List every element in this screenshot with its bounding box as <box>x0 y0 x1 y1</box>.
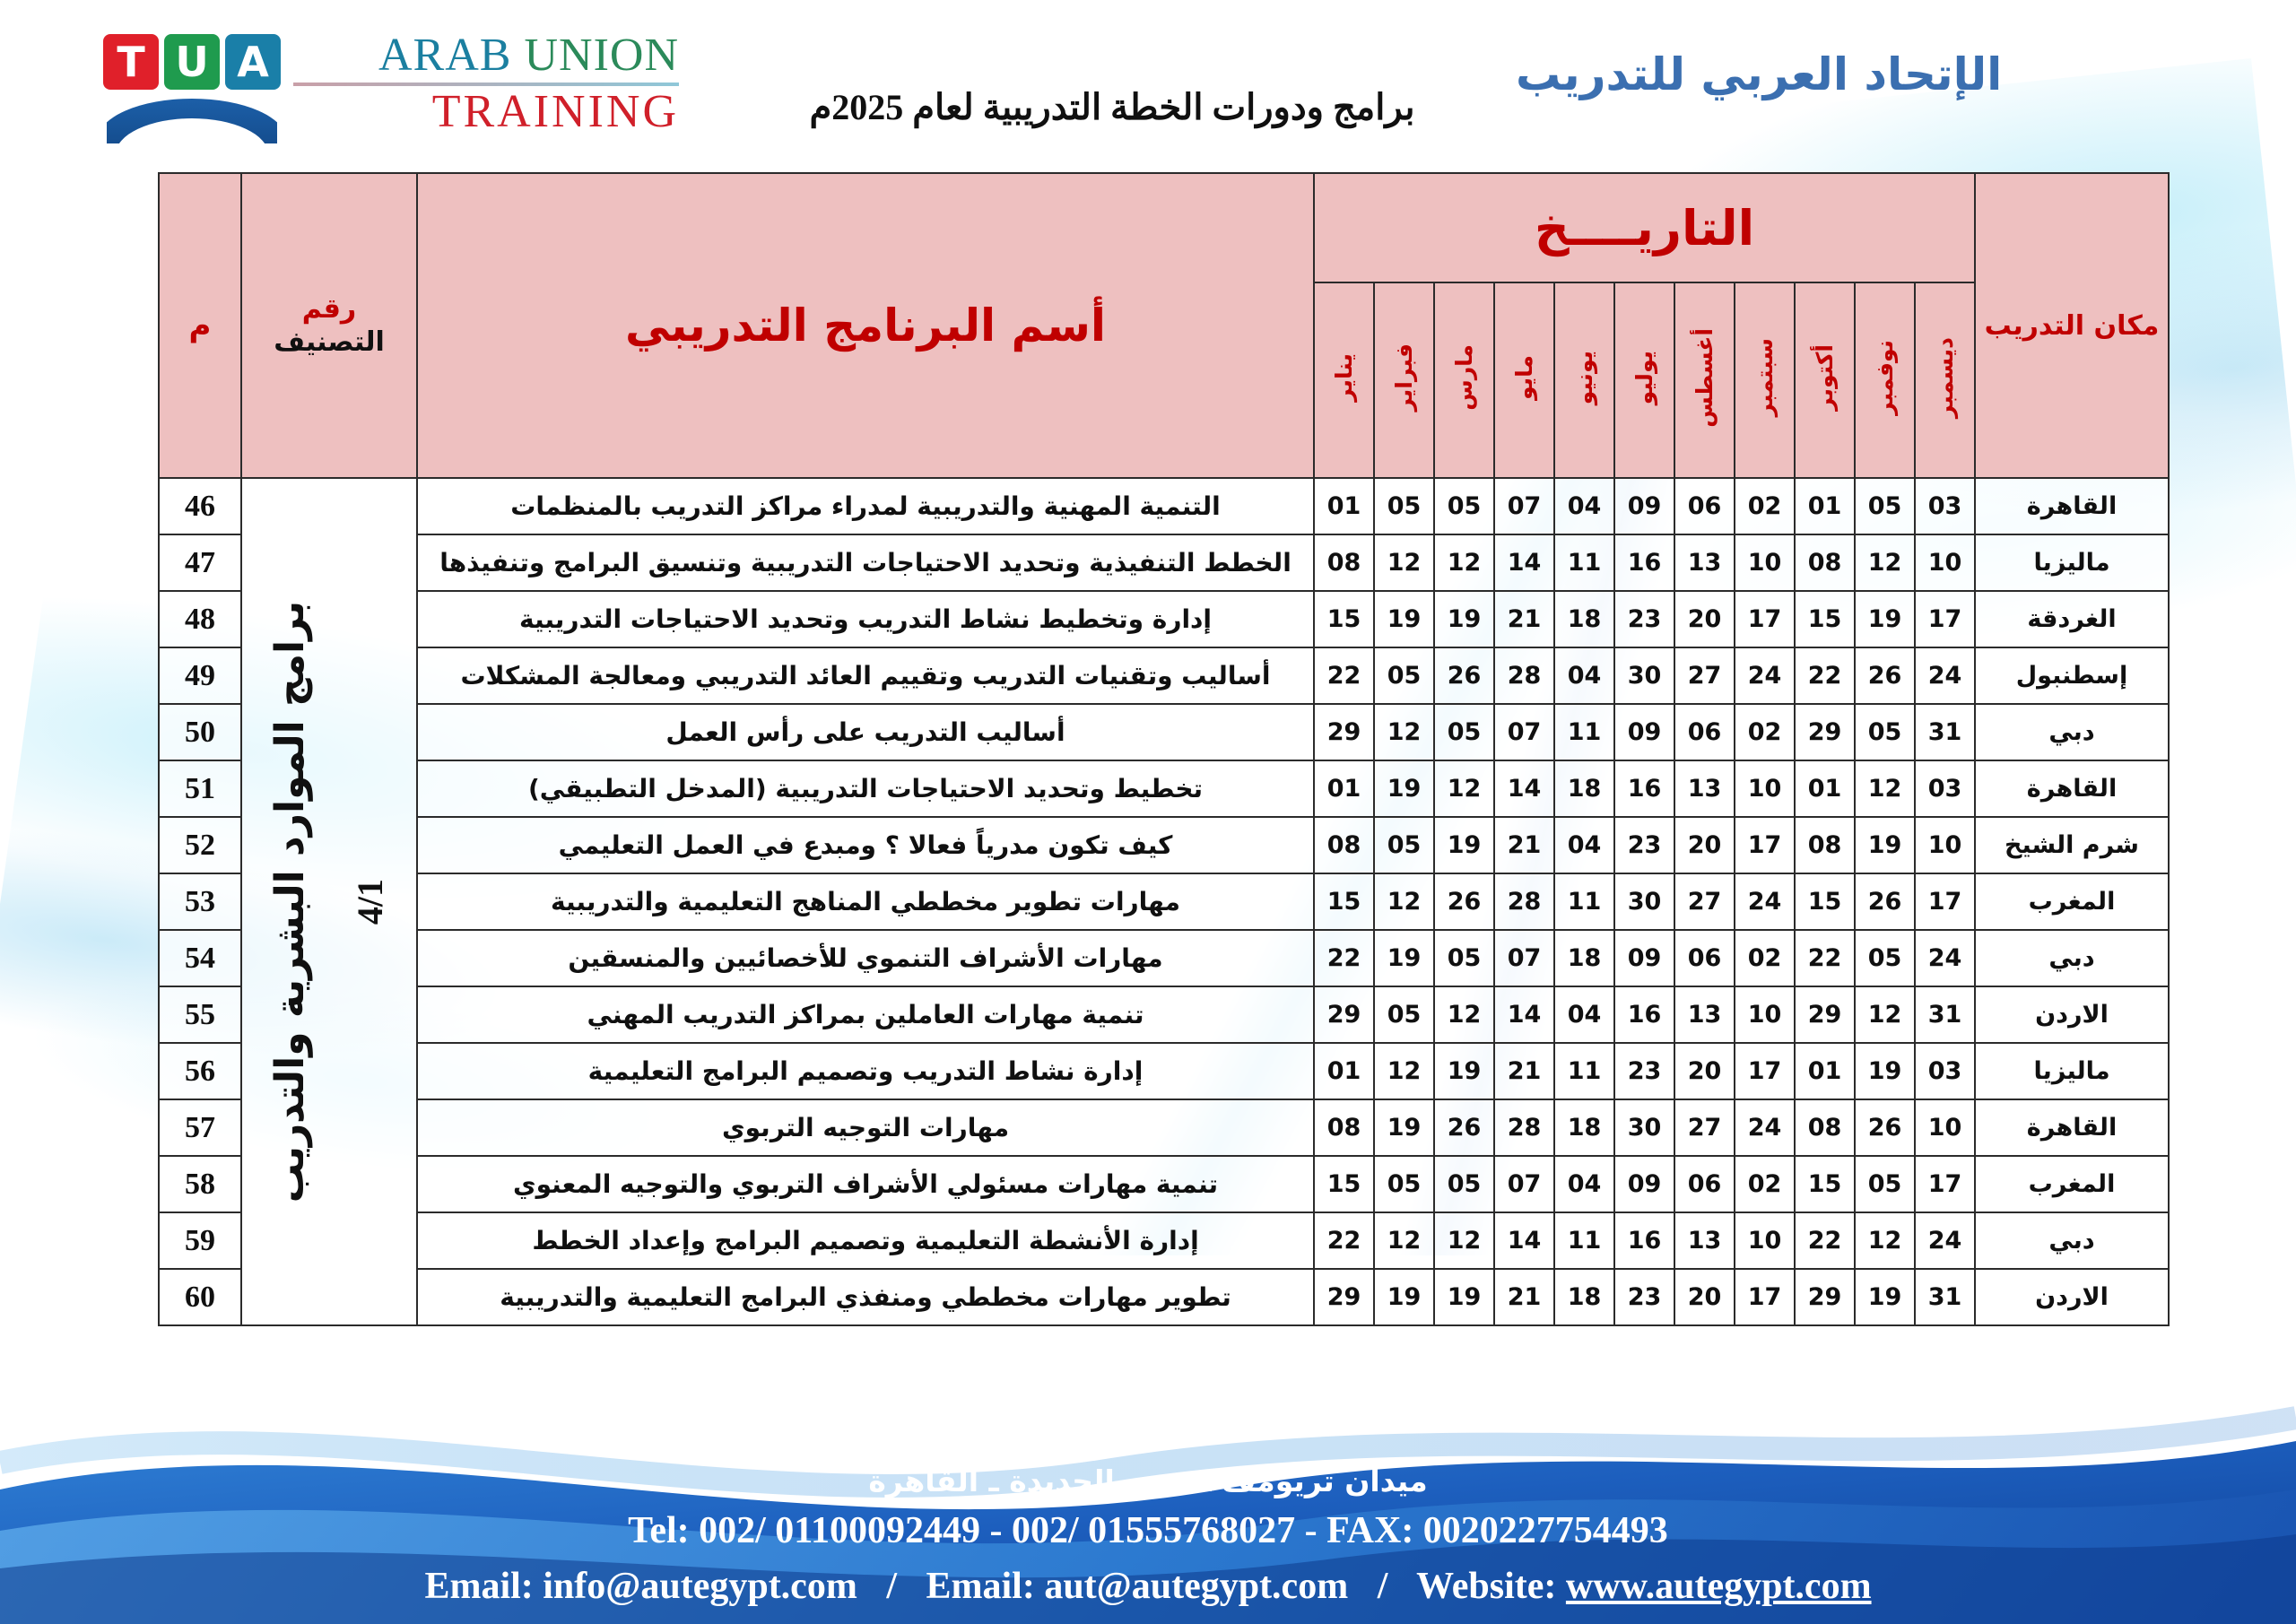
cell-day: 16 <box>1614 534 1674 591</box>
cell-day: 26 <box>1434 647 1494 704</box>
cell-day: 18 <box>1554 1099 1614 1156</box>
month-header-june: يونيو <box>1554 282 1614 478</box>
cell-day: 12 <box>1855 986 1915 1043</box>
cell-index: 53 <box>159 873 241 930</box>
month-label: مارس <box>1451 344 1477 411</box>
cell-day: 26 <box>1855 647 1915 704</box>
logo-square-a: A <box>225 34 281 90</box>
table-row: القاهرة0312011013161814121901تخطيط وتحدي… <box>159 760 2169 817</box>
cell-index: 55 <box>159 986 241 1043</box>
cell-day: 20 <box>1674 817 1735 873</box>
cell-day: 05 <box>1434 704 1494 760</box>
cell-day: 08 <box>1795 534 1855 591</box>
cell-program-name: إدارة نشاط التدريب وتصميم البرامج التعلي… <box>417 1043 1314 1099</box>
cell-day: 22 <box>1795 930 1855 986</box>
header-classification-red: رقم <box>302 293 356 325</box>
cell-day: 20 <box>1674 1269 1735 1325</box>
cell-day: 24 <box>1735 1099 1795 1156</box>
month-label: فبراير <box>1391 343 1417 412</box>
footer-address: ميدان تريومف ـ مصر الجديدة ـ القاهرة <box>0 1463 2296 1498</box>
cell-day: 29 <box>1314 1269 1374 1325</box>
cell-day: 31 <box>1915 704 1975 760</box>
email-label-1: Email: <box>424 1566 533 1607</box>
aut-logo: A U T ARAB UNION TRAINING <box>94 20 668 154</box>
cell-day: 10 <box>1735 534 1795 591</box>
month-header-july: يوليو <box>1614 282 1674 478</box>
email-address-2[interactable]: aut@autegypt.com <box>1044 1566 1348 1607</box>
cell-day: 01 <box>1314 1043 1374 1099</box>
cell-program-name: أساليب التدريب على رأس العمل <box>417 704 1314 760</box>
cell-index: 46 <box>159 478 241 534</box>
table-row: ماليزيا0319011720231121191201إدارة نشاط … <box>159 1043 2169 1099</box>
cell-day: 17 <box>1735 591 1795 647</box>
cell-index: 47 <box>159 534 241 591</box>
cell-day: 12 <box>1434 534 1494 591</box>
cell-day: 19 <box>1855 1043 1915 1099</box>
header-place: مكان التدريب <box>1975 173 2169 478</box>
cell-day: 02 <box>1735 1156 1795 1212</box>
month-header-october: أكتوبر <box>1795 282 1855 478</box>
cell-day: 28 <box>1494 873 1554 930</box>
cell-place: المغرب <box>1975 873 2169 930</box>
cell-day: 19 <box>1374 1269 1434 1325</box>
cell-index: 54 <box>159 930 241 986</box>
cell-day: 12 <box>1855 534 1915 591</box>
cell-day: 09 <box>1614 478 1674 534</box>
cell-day: 23 <box>1614 817 1674 873</box>
cell-day: 31 <box>1915 986 1975 1043</box>
cell-day: 19 <box>1434 817 1494 873</box>
month-header-august: أغسطس <box>1674 282 1735 478</box>
cell-day: 15 <box>1314 873 1374 930</box>
header-program-name: أسم البرنامج التدريبي <box>417 173 1314 478</box>
cell-day: 03 <box>1915 1043 1975 1099</box>
cell-day: 19 <box>1855 1269 1915 1325</box>
cell-day: 12 <box>1374 1043 1434 1099</box>
logo-word-arab: ARAB <box>378 30 511 81</box>
month-label: نوفمبر <box>1872 340 1898 415</box>
cell-day: 17 <box>1915 873 1975 930</box>
cell-day: 05 <box>1374 986 1434 1043</box>
month-header-march: مارس <box>1434 282 1494 478</box>
month-header-november: نوفمبر <box>1855 282 1915 478</box>
cell-day: 10 <box>1735 986 1795 1043</box>
logo-name-line2: TRAINING <box>293 88 679 137</box>
cell-day: 30 <box>1614 873 1674 930</box>
cell-index: 59 <box>159 1212 241 1269</box>
cell-day: 17 <box>1735 1043 1795 1099</box>
cell-day: 19 <box>1374 930 1434 986</box>
cell-day: 05 <box>1855 1156 1915 1212</box>
logo-square-t: T <box>103 34 159 90</box>
cell-day: 08 <box>1314 534 1374 591</box>
cell-program-name: تطوير مهارات مخططي ومنفذي البرامج التعلي… <box>417 1269 1314 1325</box>
table-row: دبي2405220206091807051922مهارات الأشراف … <box>159 930 2169 986</box>
cell-day: 09 <box>1614 930 1674 986</box>
cell-day: 13 <box>1674 986 1735 1043</box>
cell-day: 07 <box>1494 930 1554 986</box>
cell-day: 12 <box>1434 760 1494 817</box>
cell-day: 14 <box>1494 534 1554 591</box>
cell-day: 03 <box>1915 760 1975 817</box>
cell-day: 04 <box>1554 1156 1614 1212</box>
cell-day: 01 <box>1314 760 1374 817</box>
cell-day: 05 <box>1434 1156 1494 1212</box>
cell-day: 23 <box>1614 1269 1674 1325</box>
cell-program-name: مهارات تطوير مخططي المناهج التعليمية وال… <box>417 873 1314 930</box>
month-header-january: يناير <box>1314 282 1374 478</box>
cell-day: 10 <box>1915 1099 1975 1156</box>
training-plan-table: مكان التدريب التاريــــخ أسم البرنامج ال… <box>158 172 2170 1326</box>
cell-day: 10 <box>1915 534 1975 591</box>
cell-day: 19 <box>1374 591 1434 647</box>
cell-day: 28 <box>1494 1099 1554 1156</box>
cell-day: 12 <box>1374 873 1434 930</box>
footer-separator-2: / <box>1358 1566 1408 1607</box>
cell-day: 15 <box>1795 1156 1855 1212</box>
cell-day: 11 <box>1554 873 1614 930</box>
month-header-december: ديسمبر <box>1915 282 1975 478</box>
cell-day: 10 <box>1915 817 1975 873</box>
org-name-arabic: الإتحاد العربي للتدريب <box>1516 48 2197 100</box>
table-head: مكان التدريب التاريــــخ أسم البرنامج ال… <box>159 173 2169 478</box>
cell-day: 04 <box>1554 647 1614 704</box>
cell-day: 07 <box>1494 1156 1554 1212</box>
page-title: برامج ودورات الخطة التدريبية لعام 2025م <box>771 86 1453 128</box>
cell-place: الغردقة <box>1975 591 2169 647</box>
cell-day: 02 <box>1735 704 1795 760</box>
cell-day: 04 <box>1554 817 1614 873</box>
cell-day: 18 <box>1554 760 1614 817</box>
cell-day: 09 <box>1614 704 1674 760</box>
cell-program-name: كيف تكون مدرياً فعالا ؟ ومبدع في العمل ا… <box>417 817 1314 873</box>
cell-day: 24 <box>1915 930 1975 986</box>
month-header-february: فبراير <box>1374 282 1434 478</box>
cell-day: 24 <box>1915 1212 1975 1269</box>
cell-program-name: إدارة وتخطيط نشاط التدريب وتحديد الاحتيا… <box>417 591 1314 647</box>
footer-contact-line: Email: info@autegypt.com / Email: aut@au… <box>0 1565 2296 1608</box>
cell-day: 19 <box>1374 760 1434 817</box>
cell-day: 07 <box>1494 704 1554 760</box>
category-label: برامج الموارد البشرية والتدريب <box>267 601 313 1203</box>
cell-day: 17 <box>1915 591 1975 647</box>
cell-day: 05 <box>1434 478 1494 534</box>
cell-day: 03 <box>1915 478 1975 534</box>
cell-day: 18 <box>1554 591 1614 647</box>
cell-day: 15 <box>1795 591 1855 647</box>
table-row: الاردن3112291013160414120529تنمية مهارات… <box>159 986 2169 1043</box>
cell-day: 15 <box>1795 873 1855 930</box>
cell-day: 12 <box>1855 1212 1915 1269</box>
cell-day: 11 <box>1554 534 1614 591</box>
table-row: المغرب1726152427301128261215مهارات تطوير… <box>159 873 2169 930</box>
cell-day: 17 <box>1735 817 1795 873</box>
cell-day: 13 <box>1674 760 1735 817</box>
table-row: الاردن3119291720231821191929تطوير مهارات… <box>159 1269 2169 1325</box>
cell-day: 12 <box>1434 1212 1494 1269</box>
cell-day: 30 <box>1614 647 1674 704</box>
cell-day: 21 <box>1494 1269 1554 1325</box>
cell-day: 05 <box>1855 704 1915 760</box>
cell-day: 01 <box>1795 1043 1855 1099</box>
cell-place: القاهرة <box>1975 760 2169 817</box>
category-inner: 4/1برامج الموارد البشرية والتدريب <box>242 601 416 1203</box>
header-classification-black: التصنيف <box>274 326 385 358</box>
cell-day: 05 <box>1374 478 1434 534</box>
cell-day: 20 <box>1674 1043 1735 1099</box>
email-address-1[interactable]: info@autegypt.com <box>543 1566 857 1607</box>
cell-day: 11 <box>1554 1212 1614 1269</box>
cell-day: 26 <box>1434 1099 1494 1156</box>
cell-place: القاهرة <box>1975 478 2169 534</box>
cell-day: 10 <box>1735 1212 1795 1269</box>
cell-day: 06 <box>1674 704 1735 760</box>
cell-day: 20 <box>1674 591 1735 647</box>
table-row: القاهرة0305010206090407050501التنمية الم… <box>159 478 2169 534</box>
cell-day: 16 <box>1614 986 1674 1043</box>
cell-index: 49 <box>159 647 241 704</box>
cell-place: ماليزيا <box>1975 1043 2169 1099</box>
header-date-group: التاريــــخ <box>1314 173 1975 282</box>
cell-day: 15 <box>1314 591 1374 647</box>
table-row: المغرب1705150206090407050515تنمية مهارات… <box>159 1156 2169 1212</box>
cell-day: 19 <box>1855 591 1915 647</box>
cell-program-name: إدارة الأنشطة التعليمية وتصميم البرامج و… <box>417 1212 1314 1269</box>
cell-day: 06 <box>1674 930 1735 986</box>
cell-day: 27 <box>1674 873 1735 930</box>
month-label: ديسمبر <box>1932 337 1958 418</box>
cell-day: 16 <box>1614 1212 1674 1269</box>
cell-program-name: تنمية مهارات العاملين بمراكز التدريب الم… <box>417 986 1314 1043</box>
cell-index: 51 <box>159 760 241 817</box>
cell-day: 13 <box>1674 534 1735 591</box>
cell-program-name: التنمية المهنية والتدريبية لمدراء مراكز … <box>417 478 1314 534</box>
cell-day: 17 <box>1915 1156 1975 1212</box>
cell-day: 21 <box>1494 817 1554 873</box>
cell-day: 19 <box>1374 1099 1434 1156</box>
cell-place: دبي <box>1975 704 2169 760</box>
month-label: مايو <box>1511 355 1537 400</box>
table-row: دبي3105290206091107051229أساليب التدريب … <box>159 704 2169 760</box>
month-header-september: سبتمبر <box>1735 282 1795 478</box>
logo-name-line1: ARAB UNION <box>293 32 679 79</box>
cell-day: 16 <box>1614 760 1674 817</box>
cell-day: 04 <box>1554 478 1614 534</box>
cell-day: 12 <box>1855 760 1915 817</box>
table-row: الغردقة1719151720231821191915إدارة وتخطي… <box>159 591 2169 647</box>
table-body: القاهرة0305010206090407050501التنمية الم… <box>159 478 2169 1325</box>
header-index: م <box>159 173 241 478</box>
cell-day: 05 <box>1374 647 1434 704</box>
cell-place: دبي <box>1975 930 2169 986</box>
cell-day: 26 <box>1855 873 1915 930</box>
footer-separator-1: / <box>866 1566 917 1607</box>
training-plan-table-wrapper: مكان التدريب التاريــــخ أسم البرنامج ال… <box>158 172 2170 1326</box>
cell-day: 19 <box>1434 591 1494 647</box>
cell-day: 12 <box>1374 704 1434 760</box>
month-label: يوليو <box>1631 351 1657 404</box>
cell-place: دبي <box>1975 1212 2169 1269</box>
cell-day: 26 <box>1434 873 1494 930</box>
cell-day: 22 <box>1795 647 1855 704</box>
cell-day: 29 <box>1795 986 1855 1043</box>
cell-day: 19 <box>1434 1043 1494 1099</box>
cell-place: القاهرة <box>1975 1099 2169 1156</box>
cell-day: 13 <box>1674 1212 1735 1269</box>
cell-day: 21 <box>1494 1043 1554 1099</box>
cell-day: 19 <box>1855 817 1915 873</box>
cell-day: 17 <box>1735 1269 1795 1325</box>
logo-letter-squares: A U T <box>103 34 281 90</box>
cell-day: 06 <box>1674 1156 1735 1212</box>
cell-day: 09 <box>1614 1156 1674 1212</box>
table-row: ماليزيا1012081013161114121208الخطط التنف… <box>159 534 2169 591</box>
header-row-top: مكان التدريب التاريــــخ أسم البرنامج ال… <box>159 173 2169 282</box>
header-classification-no: رقم التصنيف <box>241 173 417 478</box>
cell-day: 12 <box>1434 986 1494 1043</box>
cell-day: 31 <box>1915 1269 1975 1325</box>
cell-day: 22 <box>1314 1212 1374 1269</box>
cell-program-name: تخطيط وتحديد الاحتياجات التدريبية (المدخ… <box>417 760 1314 817</box>
cell-day: 29 <box>1314 704 1374 760</box>
cell-index: 60 <box>159 1269 241 1325</box>
cell-index: 57 <box>159 1099 241 1156</box>
month-label: يونيو <box>1571 351 1597 404</box>
cell-day: 22 <box>1795 1212 1855 1269</box>
cell-day: 08 <box>1314 1099 1374 1156</box>
cell-place: شرم الشيخ <box>1975 817 2169 873</box>
cell-day: 24 <box>1915 647 1975 704</box>
month-label: يناير <box>1331 353 1357 402</box>
cell-day: 23 <box>1614 591 1674 647</box>
month-header-may: مايو <box>1494 282 1554 478</box>
cell-category-group: 4/1برامج الموارد البشرية والتدريب <box>241 478 417 1325</box>
cell-day: 14 <box>1494 760 1554 817</box>
cell-day: 24 <box>1735 873 1795 930</box>
cell-index: 56 <box>159 1043 241 1099</box>
cell-day: 22 <box>1314 647 1374 704</box>
category-code: 4/1 <box>349 879 391 925</box>
cell-day: 05 <box>1374 1156 1434 1212</box>
cell-day: 04 <box>1554 986 1614 1043</box>
cell-index: 52 <box>159 817 241 873</box>
cell-day: 02 <box>1735 930 1795 986</box>
month-label: سبتمبر <box>1752 338 1778 417</box>
cell-place: ماليزيا <box>1975 534 2169 591</box>
cell-place: المغرب <box>1975 1156 2169 1212</box>
logo-word-union: UNION <box>524 30 679 81</box>
cell-place: الاردن <box>1975 1269 2169 1325</box>
cell-program-name: مهارات التوجيه التربوي <box>417 1099 1314 1156</box>
logo-arc-shape <box>107 95 277 143</box>
cell-day: 11 <box>1554 704 1614 760</box>
cell-day: 11 <box>1554 1043 1614 1099</box>
cell-program-name: مهارات الأشراف التنموي للأخصائيين والمنس… <box>417 930 1314 986</box>
cell-day: 18 <box>1554 1269 1614 1325</box>
website-link[interactable]: www.autegypt.com <box>1566 1566 1872 1607</box>
cell-day: 10 <box>1735 760 1795 817</box>
cell-day: 06 <box>1674 478 1735 534</box>
cell-day: 12 <box>1374 534 1434 591</box>
cell-day: 08 <box>1795 817 1855 873</box>
cell-day: 29 <box>1795 1269 1855 1325</box>
cell-day: 27 <box>1674 1099 1735 1156</box>
cell-place: إسطنبول <box>1975 647 2169 704</box>
cell-day: 14 <box>1494 1212 1554 1269</box>
cell-day: 05 <box>1434 930 1494 986</box>
cell-day: 15 <box>1314 1156 1374 1212</box>
cell-day: 29 <box>1314 986 1374 1043</box>
cell-day: 07 <box>1494 478 1554 534</box>
cell-day: 30 <box>1614 1099 1674 1156</box>
cell-day: 05 <box>1855 930 1915 986</box>
cell-day: 08 <box>1795 1099 1855 1156</box>
website-label: Website: <box>1416 1566 1556 1607</box>
cell-day: 01 <box>1314 478 1374 534</box>
cell-day: 14 <box>1494 986 1554 1043</box>
cell-place: الاردن <box>1975 986 2169 1043</box>
page-header: A U T ARAB UNION TRAINING برامج ودورات ا… <box>0 0 2296 170</box>
cell-day: 02 <box>1735 478 1795 534</box>
cell-day: 08 <box>1314 817 1374 873</box>
footer-phone-line: Tel: 002/ 01100092449 - 002/ 01555768027… <box>0 1509 2296 1552</box>
cell-day: 24 <box>1735 647 1795 704</box>
logo-square-u: U <box>164 34 220 90</box>
email-label-2: Email: <box>926 1566 1034 1607</box>
table-row: القاهرة1026082427301828261908مهارات التو… <box>159 1099 2169 1156</box>
cell-day: 05 <box>1855 478 1915 534</box>
cell-day: 19 <box>1434 1269 1494 1325</box>
cell-program-name: أساليب وتقنيات التدريب وتقييم العائد الت… <box>417 647 1314 704</box>
cell-day: 01 <box>1795 760 1855 817</box>
logo-wordmark: ARAB UNION TRAINING <box>293 32 679 137</box>
cell-day: 27 <box>1674 647 1735 704</box>
cell-day: 23 <box>1614 1043 1674 1099</box>
cell-day: 29 <box>1795 704 1855 760</box>
table-row: شرم الشيخ1019081720230421190508كيف تكون … <box>159 817 2169 873</box>
cell-day: 28 <box>1494 647 1554 704</box>
cell-day: 12 <box>1374 1212 1434 1269</box>
page-footer: ميدان تريومف ـ مصر الجديدة ـ القاهرة Tel… <box>0 1463 2296 1608</box>
cell-index: 48 <box>159 591 241 647</box>
table-row: دبي2412221013161114121222إدارة الأنشطة ا… <box>159 1212 2169 1269</box>
cell-day: 01 <box>1795 478 1855 534</box>
table-row: إسطنبول2426222427300428260522أساليب وتقن… <box>159 647 2169 704</box>
cell-day: 18 <box>1554 930 1614 986</box>
cell-day: 26 <box>1855 1099 1915 1156</box>
cell-index: 50 <box>159 704 241 760</box>
cell-program-name: الخطط التنفيذية وتحديد الاحتياجات التدري… <box>417 534 1314 591</box>
cell-day: 21 <box>1494 591 1554 647</box>
month-label: أغسطس <box>1692 328 1718 428</box>
cell-index: 58 <box>159 1156 241 1212</box>
cell-program-name: تنمية مهارات مسئولي الأشراف التربوي والت… <box>417 1156 1314 1212</box>
cell-day: 05 <box>1374 817 1434 873</box>
month-label: أكتوبر <box>1812 344 1838 411</box>
cell-day: 22 <box>1314 930 1374 986</box>
